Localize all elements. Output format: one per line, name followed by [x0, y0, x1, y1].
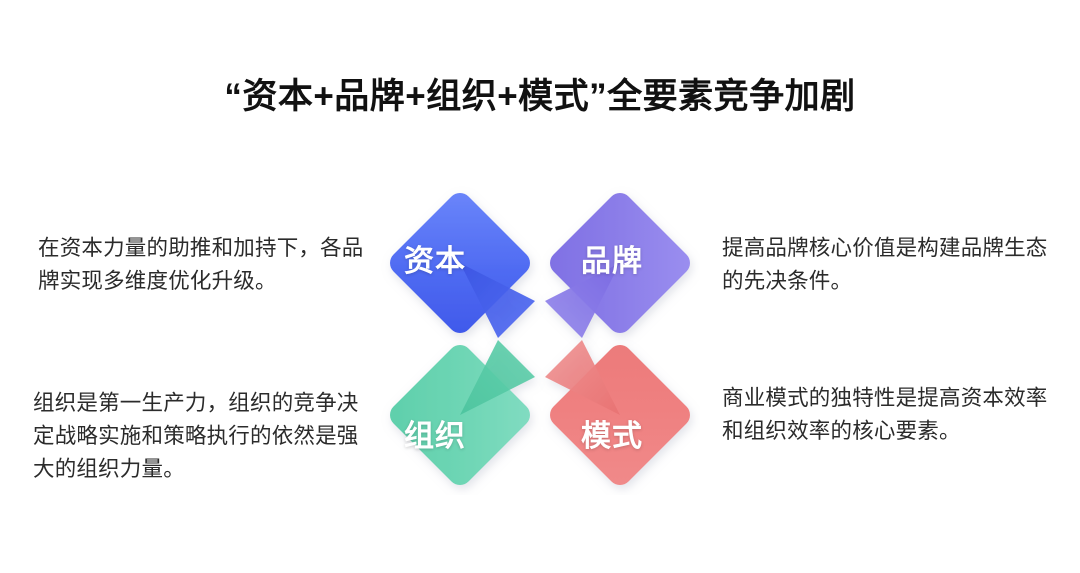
petal-model	[545, 340, 695, 490]
description-brand: 提高品牌核心价值是构建品牌生态的先决条件。	[722, 232, 1062, 298]
four-petal-diagram	[380, 183, 700, 495]
page-title: “资本+品牌+组织+模式”全要素竞争加剧	[0, 68, 1080, 119]
slide-canvas: “资本+品牌+组织+模式”全要素竞争加剧 在资本力量的助推和加持下，各品牌实现多…	[0, 0, 1080, 573]
petal-capital	[385, 188, 535, 338]
description-capital: 在资本力量的助推和加持下，各品牌实现多维度优化升级。	[38, 232, 378, 298]
petal-brand	[545, 188, 695, 338]
description-organization: 组织是第一生产力，组织的竞争决定战略实施和策略执行的依然是强大的组织力量。	[33, 387, 378, 486]
description-model: 商业模式的独特性是提高资本效率和组织效率的核心要素。	[722, 382, 1067, 448]
petal-organization	[385, 340, 535, 490]
